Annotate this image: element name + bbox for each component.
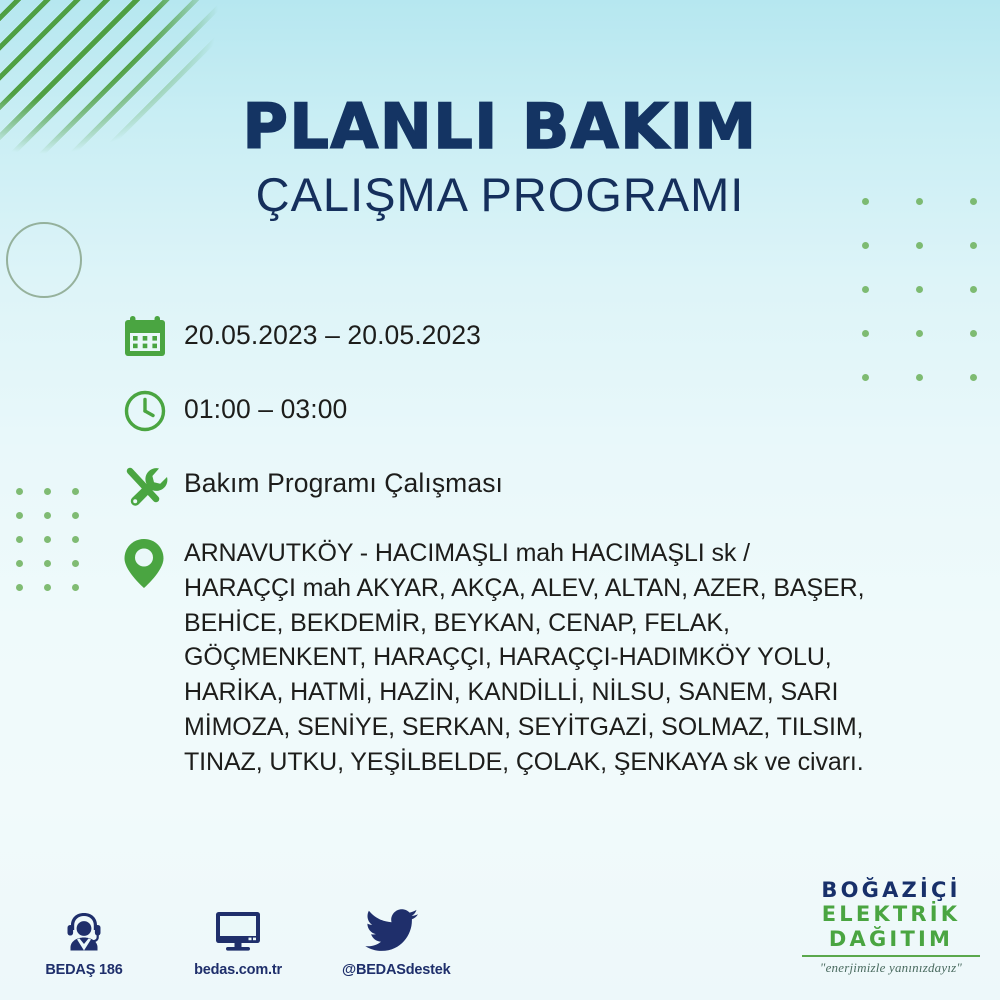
calendar-icon: [122, 312, 184, 360]
twitter-label: @BEDASdestek: [342, 962, 442, 978]
monitor-icon: [188, 903, 288, 955]
detail-row-date: 20.05.2023 – 20.05.2023: [122, 312, 922, 360]
detail-worktype-value: Bakım Programı Çalışması: [184, 460, 503, 501]
detail-date-value: 20.05.2023 – 20.05.2023: [184, 312, 481, 353]
detail-address-value: ARNAVUTKÖY - HACIMAŞLI mah HACIMAŞLI sk …: [184, 534, 864, 779]
address-line: GÖÇMENKENT, HARAÇÇI, HARAÇÇI-HADIMKÖY YO…: [184, 643, 832, 671]
page-header: PLANLI BAKIM ÇALIŞMA PROGRAMI: [0, 96, 1000, 218]
detail-time-value: 01:00 – 03:00: [184, 386, 347, 427]
contact-phone-link[interactable]: BEDAŞ 186: [34, 903, 134, 978]
address-line: ARNAVUTKÖY - HACIMAŞLI mah HACIMAŞLI sk …: [184, 539, 750, 567]
contact-phone-label: BEDAŞ 186: [34, 962, 134, 978]
page-subtitle: ÇALIŞMA PROGRAMI: [0, 171, 1000, 218]
twitter-bird-icon: [342, 903, 442, 955]
clock-icon: [122, 386, 184, 434]
address-line: HARAÇÇI mah AKYAR, AKÇA, ALEV, ALTAN, AZ…: [184, 574, 864, 602]
address-line: BEHİCE, BEKDEMİR, BEYKAN, CENAP, FELAK,: [184, 609, 730, 637]
address-line: HARİKA, HATMİ, HAZİN, KANDİLLİ, NİLSU, S…: [184, 678, 838, 706]
tools-icon: [122, 460, 184, 508]
brand-divider: [802, 955, 980, 957]
social-links: BEDAŞ 186 bedas.com.tr @B: [34, 903, 442, 978]
circle-outline-decoration: [6, 222, 82, 298]
page-footer: BEDAŞ 186 bedas.com.tr @B: [0, 880, 1000, 1000]
brand-tagline: "enerjimizle yanınızdayız": [796, 960, 986, 976]
support-agent-icon: [34, 903, 134, 955]
twitter-link[interactable]: @BEDASdestek: [342, 903, 442, 978]
detail-row-time: 01:00 – 03:00: [122, 386, 922, 434]
brand-line-1: BOĞAZİÇİ: [796, 878, 986, 902]
page-title: PLANLI BAKIM: [0, 96, 1000, 158]
outage-details: 20.05.2023 – 20.05.2023 01:00 – 03:00 Ba…: [122, 312, 922, 779]
detail-row-worktype: Bakım Programı Çalışması: [122, 460, 922, 508]
website-label: bedas.com.tr: [188, 962, 288, 978]
address-line: TINAZ, UTKU, YEŞİLBELDE, ÇOLAK, ŞENKAYA …: [184, 748, 864, 776]
detail-row-address: ARNAVUTKÖY - HACIMAŞLI mah HACIMAŞLI sk …: [122, 534, 922, 779]
location-pin-icon: [122, 534, 184, 590]
brand-line-3: DAĞITIM: [796, 927, 986, 951]
dot-grid-decoration-left: [0, 488, 100, 608]
website-link[interactable]: bedas.com.tr: [188, 903, 288, 978]
address-line: MİMOZA, SENİYE, SERKAN, SEYİTGAZİ, SOLMA…: [184, 713, 863, 741]
bedas-logo: BOĞAZİÇİ ELEKTRİK DAĞITIM "enerjimizle y…: [796, 878, 986, 976]
brand-line-2: ELEKTRİK: [796, 902, 986, 926]
